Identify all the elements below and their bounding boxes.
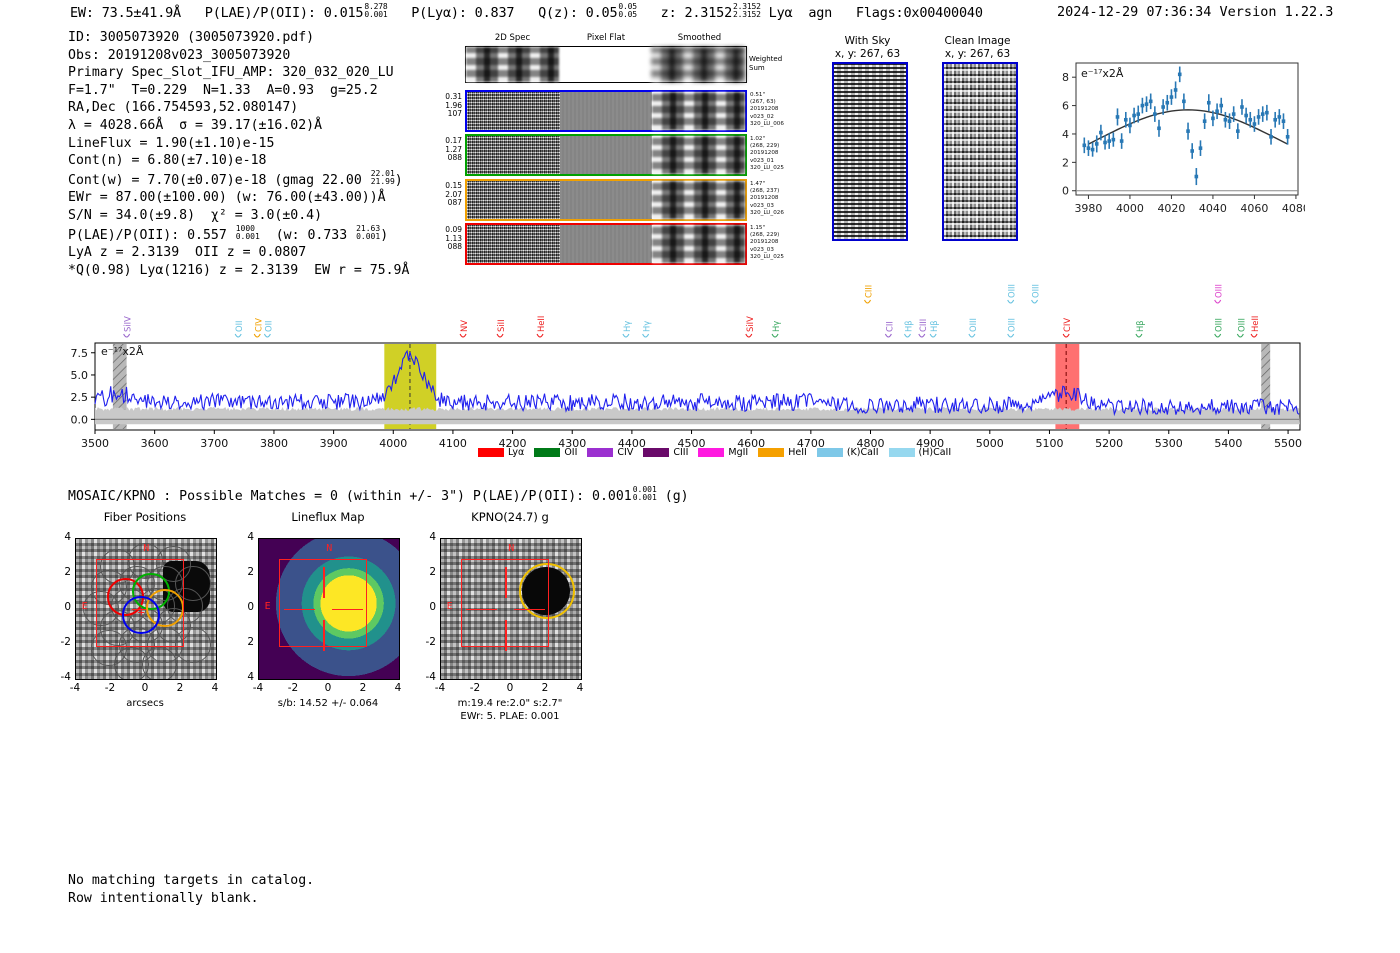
info-line-8: Cont(w) = 7.70(±0.07)e-18 (gmag 22.00 22… bbox=[68, 170, 409, 190]
svg-text:4100: 4100 bbox=[439, 437, 467, 450]
emission-line-marker: OIII bbox=[1236, 318, 1246, 337]
svg-text:2.5: 2.5 bbox=[71, 391, 89, 404]
svg-text:0: 0 bbox=[1062, 185, 1069, 198]
cutout-xtick: -2 bbox=[100, 682, 120, 694]
cutout-ytick: 0 bbox=[238, 601, 254, 613]
svg-text:Hγ: Hγ bbox=[771, 321, 781, 332]
cutout-xtick: 2 bbox=[170, 682, 190, 694]
svg-text:e⁻¹⁷x2Å: e⁻¹⁷x2Å bbox=[101, 345, 144, 358]
info-line-3: F=1.7" T=0.229 N=1.33 A=0.93 g=25.2 bbox=[68, 82, 409, 100]
line-fit-chart: 02468398040004020404040604080e⁻¹⁷x2Å bbox=[1040, 55, 1305, 220]
svg-text:e⁻¹⁷x2Å: e⁻¹⁷x2Å bbox=[1081, 67, 1124, 80]
svg-text:CIII: CIII bbox=[864, 285, 874, 298]
full-spectrum-panel: 0.02.55.07.53500360037003800390040004100… bbox=[0, 280, 1400, 470]
emission-line-marker: Hγ bbox=[642, 321, 652, 337]
info-line-11: P(LAE)/P(OII): 0.557 10000.001 (w: 0.733… bbox=[68, 225, 409, 245]
legend-label: Lyα bbox=[508, 447, 524, 458]
emission-line-marker: CIV bbox=[1062, 318, 1072, 337]
crosshair bbox=[466, 609, 497, 610]
crosshair bbox=[505, 567, 506, 598]
emission-line-marker: OIII bbox=[1007, 318, 1017, 337]
compass-east: E bbox=[447, 601, 453, 612]
cutout-ytick: 2 bbox=[55, 566, 71, 578]
info-line-13: *Q(0.98) Lyα(1216) z = 2.3139 EW r = 75.… bbox=[68, 262, 409, 280]
emission-line-marker: OIII bbox=[1031, 284, 1041, 303]
emission-line-marker: SiIV bbox=[745, 316, 755, 337]
legend-swatch bbox=[534, 448, 560, 457]
svg-text:OIII: OIII bbox=[1236, 318, 1246, 332]
svg-text:4: 4 bbox=[1062, 128, 1069, 141]
cutout-ytick: 4 bbox=[238, 531, 254, 543]
legend-label: OII bbox=[564, 447, 577, 458]
cutout-caption: m:19.4 re:2.0" s:2.7"EWr: 5. PLAE: 0.001 bbox=[400, 698, 620, 723]
svg-text:SiIV: SiIV bbox=[745, 316, 755, 332]
svg-text:HeII: HeII bbox=[536, 316, 546, 332]
svg-text:Hγ: Hγ bbox=[622, 321, 632, 332]
legend-swatch bbox=[478, 448, 504, 457]
clean-image-title: Clean Imagex, y: 267, 63 bbox=[930, 35, 1025, 60]
svg-text:4060: 4060 bbox=[1240, 202, 1268, 215]
spec2d-fiber-strip bbox=[465, 134, 747, 176]
svg-text:CII: CII bbox=[884, 321, 894, 332]
svg-text:OII: OII bbox=[234, 320, 244, 332]
legend-label: MgII bbox=[728, 447, 748, 458]
compass-north: N bbox=[508, 543, 514, 554]
cutout-image: NE bbox=[258, 538, 400, 680]
compass-east: E bbox=[82, 601, 88, 612]
info-line-12: LyA z = 2.3139 OII z = 0.0807 bbox=[68, 244, 409, 262]
legend-item: (H)CaII bbox=[889, 447, 952, 458]
svg-text:5200: 5200 bbox=[1095, 437, 1123, 450]
legend-item: HeII bbox=[758, 447, 807, 458]
svg-text:8: 8 bbox=[1062, 71, 1069, 84]
svg-text:HeII: HeII bbox=[1250, 316, 1260, 332]
compass-north: N bbox=[143, 543, 149, 554]
svg-text:5.0: 5.0 bbox=[71, 369, 89, 382]
legend-label: CIV bbox=[617, 447, 633, 458]
spec2d-row-right-labels: 1.15"(268, 229)20191208v023_03320_LU_025 bbox=[750, 225, 812, 261]
info-line-2: Primary Spec_Slot_IFU_AMP: 320_032_020_L… bbox=[68, 64, 409, 82]
emission-line-marker: OIII bbox=[1214, 318, 1224, 337]
spec2d-fiber-strip bbox=[465, 223, 747, 265]
svg-text:4020: 4020 bbox=[1157, 202, 1185, 215]
info-line-9: EWr = 87.00(±100.00) (w: 76.00(±43.00))Å bbox=[68, 189, 409, 207]
crosshair bbox=[323, 567, 324, 598]
svg-text:CIV: CIV bbox=[253, 318, 263, 332]
legend-label: (H)CaII bbox=[919, 447, 952, 458]
cutout-panels: Fiber Positions+NE420-2-4-4-2024arcsecsL… bbox=[0, 510, 700, 740]
svg-text:4080: 4080 bbox=[1282, 202, 1305, 215]
legend-label: CIII bbox=[673, 447, 688, 458]
info-line-6: LineFlux = 1.90(±1.10)e-15 bbox=[68, 135, 409, 153]
svg-text:0.0: 0.0 bbox=[71, 413, 89, 426]
emission-line-marker: OIII bbox=[1214, 284, 1224, 303]
emission-line-marker: NV bbox=[459, 320, 469, 337]
svg-text:3700: 3700 bbox=[200, 437, 228, 450]
spec2d-row-left-labels: 0.311.96107 bbox=[430, 93, 462, 119]
cutout-xtick: -4 bbox=[65, 682, 85, 694]
emission-line-marker: Hγ bbox=[771, 321, 781, 337]
emission-line-marker: CII bbox=[884, 321, 894, 337]
cutout-xtick: 0 bbox=[318, 682, 338, 694]
spec2d-row-right-labels: 1.47"(268, 237)20191208v023_03320_LU_026 bbox=[750, 181, 812, 217]
line-fit-svg: 02468398040004020404040604080e⁻¹⁷x2Å bbox=[1040, 55, 1305, 240]
cutout-xtick: -2 bbox=[283, 682, 303, 694]
cutout-image: +NE bbox=[75, 538, 217, 680]
info-line-4: RA,Dec (166.754593,52.080147) bbox=[68, 99, 409, 117]
svg-text:5300: 5300 bbox=[1155, 437, 1183, 450]
cutout-ytick: -2 bbox=[55, 636, 71, 648]
legend-swatch bbox=[698, 448, 724, 457]
svg-text:2: 2 bbox=[1062, 156, 1069, 169]
emission-line-marker: OII bbox=[263, 320, 273, 337]
crosshair bbox=[514, 609, 545, 610]
legend-label: (K)CaII bbox=[847, 447, 879, 458]
cutout-xtick: 2 bbox=[535, 682, 555, 694]
svg-text:SiII: SiII bbox=[496, 319, 506, 332]
cutout-title: Fiber Positions bbox=[60, 510, 230, 524]
clean-image bbox=[942, 62, 1018, 241]
svg-text:Hγ: Hγ bbox=[642, 321, 652, 332]
header-plae-poii-bounds: 8.2780.001 bbox=[364, 3, 387, 20]
target-info-block: ID: 3005073920 (3005073920.pdf)Obs: 2019… bbox=[68, 29, 409, 279]
cutout-ytick: 4 bbox=[55, 531, 71, 543]
emission-line-marker: SiII bbox=[496, 319, 506, 337]
weighted-sum-strip bbox=[465, 46, 747, 83]
legend-item: CIV bbox=[587, 447, 633, 458]
legend-label: HeII bbox=[788, 447, 807, 458]
svg-text:CIV: CIV bbox=[1062, 318, 1072, 332]
full-spectrum-svg: 0.02.55.07.53500360037003800390040004100… bbox=[0, 280, 1400, 470]
spec2d-montage: 2D Spec Pixel Flat Smoothed Weighted Sum… bbox=[430, 33, 760, 248]
col-title-2dspec: 2D Spec bbox=[465, 33, 560, 43]
svg-text:Hβ: Hβ bbox=[929, 320, 939, 332]
with-sky-image bbox=[832, 62, 908, 241]
emission-line-marker: OII bbox=[234, 320, 244, 337]
cutout-ytick: -2 bbox=[420, 636, 436, 648]
emission-line-marker: Hβ bbox=[1135, 320, 1145, 337]
svg-text:CIII: CIII bbox=[918, 319, 928, 332]
info-line-10: S/N = 34.0(±9.8) χ² = 3.0(±0.4) bbox=[68, 207, 409, 225]
target-marker: + bbox=[138, 605, 145, 619]
cutout-xtick: 0 bbox=[135, 682, 155, 694]
legend-item: CIII bbox=[643, 447, 688, 458]
spectrum-legend: LyαOIICIVCIIIMgIIHeII(K)CaII(H)CaII bbox=[478, 447, 951, 458]
svg-text:OIII: OIII bbox=[1214, 284, 1224, 298]
field-box bbox=[96, 559, 185, 648]
spec2d-row-left-labels: 0.171.27088 bbox=[430, 137, 462, 163]
compass-north: N bbox=[326, 543, 332, 554]
crosshair bbox=[323, 620, 324, 651]
cutout-xtick: -4 bbox=[248, 682, 268, 694]
svg-text:SiIV: SiIV bbox=[123, 316, 133, 332]
header-plae-poii: P(LAE)/P(OII): 0.015 bbox=[205, 5, 364, 21]
cutout-xtick: -4 bbox=[430, 682, 450, 694]
cutout-xtick: 4 bbox=[570, 682, 590, 694]
timestamp-version: 2024-12-29 07:36:34 Version 1.22.3 bbox=[1057, 4, 1333, 20]
svg-text:3900: 3900 bbox=[320, 437, 348, 450]
legend-item: OII bbox=[534, 447, 577, 458]
spec2d-row-right-labels: 0.51"(267, 63)20191208v023_02320_LU_006 bbox=[750, 92, 812, 128]
svg-text:5100: 5100 bbox=[1035, 437, 1063, 450]
spec2d-row-right-labels: 1.02"(268, 229)20191208v023_01320_LU_025 bbox=[750, 136, 812, 172]
cutout-title: KPNO(24.7) g bbox=[425, 510, 595, 524]
cutout-ytick: 2 bbox=[420, 566, 436, 578]
info-line-5: λ = 4028.66Å σ = 39.17(±16.02)Å bbox=[68, 117, 409, 135]
svg-text:NV: NV bbox=[459, 320, 469, 332]
header-qz-bounds: 0.050.05 bbox=[618, 3, 636, 20]
with-sky-title: With Skyx, y: 267, 63 bbox=[820, 35, 915, 60]
legend-item: MgII bbox=[698, 447, 748, 458]
svg-text:OIII: OIII bbox=[968, 318, 978, 332]
legend-swatch bbox=[817, 448, 843, 457]
svg-text:Hβ: Hβ bbox=[903, 320, 913, 332]
crosshair bbox=[505, 620, 506, 651]
emission-line-marker: CIV bbox=[253, 318, 263, 337]
svg-text:3600: 3600 bbox=[141, 437, 169, 450]
col-title-pixelflat: Pixel Flat bbox=[560, 33, 652, 43]
svg-text:5400: 5400 bbox=[1214, 437, 1242, 450]
crosshair bbox=[332, 609, 363, 610]
svg-text:6: 6 bbox=[1062, 100, 1069, 113]
cutout-ytick: 4 bbox=[420, 531, 436, 543]
legend-item: (K)CaII bbox=[817, 447, 879, 458]
legend-item: Lyα bbox=[478, 447, 524, 458]
legend-swatch bbox=[758, 448, 784, 457]
legend-swatch bbox=[587, 448, 613, 457]
cutout-xtick: -2 bbox=[465, 682, 485, 694]
emission-line-marker: HeII bbox=[536, 316, 546, 337]
spec2d-row-left-labels: 0.091.13088 bbox=[430, 226, 462, 252]
svg-text:7.5: 7.5 bbox=[71, 347, 89, 360]
mosaic-kpno-line: MOSAIC/KPNO : Possible Matches = 0 (with… bbox=[68, 486, 689, 504]
svg-text:3980: 3980 bbox=[1074, 202, 1102, 215]
header-z: z: 2.3152 bbox=[661, 5, 732, 21]
cutout-ytick: 2 bbox=[238, 566, 254, 578]
cutout-title: Lineflux Map bbox=[243, 510, 413, 524]
emission-line-marker: CIII bbox=[918, 319, 928, 337]
info-line-1: Obs: 20191208v023_3005073920 bbox=[68, 47, 409, 65]
emission-line-marker: OIII bbox=[968, 318, 978, 337]
svg-text:OIII: OIII bbox=[1007, 284, 1017, 298]
cutout-xtick: 4 bbox=[388, 682, 408, 694]
header-flags: Flags:0x00400040 bbox=[856, 5, 983, 21]
header-summary-line: EW: 73.5±41.9Å P(LAE)/P(OII): 0.0158.278… bbox=[70, 3, 983, 21]
svg-text:5500: 5500 bbox=[1274, 437, 1302, 450]
emission-line-marker: Hβ bbox=[903, 320, 913, 337]
cutout-ytick: 0 bbox=[55, 601, 71, 613]
header-z-bounds: 2.31522.3152 bbox=[733, 3, 761, 20]
emission-line-marker: Hγ bbox=[622, 321, 632, 337]
cutout-image: NE bbox=[440, 538, 582, 680]
cutout-xtick: 4 bbox=[205, 682, 225, 694]
footer-note: No matching targets in catalog. Row inte… bbox=[68, 872, 314, 908]
cutout-xtick: 0 bbox=[500, 682, 520, 694]
svg-text:OIII: OIII bbox=[1007, 318, 1017, 332]
emission-line-marker: OIII bbox=[1007, 284, 1017, 303]
svg-text:Hβ: Hβ bbox=[1135, 320, 1145, 332]
svg-text:4040: 4040 bbox=[1199, 202, 1227, 215]
col-title-smoothed: Smoothed bbox=[652, 33, 747, 43]
legend-swatch bbox=[643, 448, 669, 457]
mosaic-ratio-bounds: 0.0010.001 bbox=[633, 486, 657, 503]
emission-line-marker: Hβ bbox=[929, 320, 939, 337]
emission-line-marker: SiIV bbox=[123, 316, 133, 337]
svg-text:OIII: OIII bbox=[1031, 284, 1041, 298]
svg-text:4000: 4000 bbox=[1116, 202, 1144, 215]
header-class-secondary: agn bbox=[808, 5, 832, 21]
spec2d-row-left-labels: 0.152.07087 bbox=[430, 182, 462, 208]
info-line-7: Cont(n) = 6.80(±7.10)e-18 bbox=[68, 152, 409, 170]
emission-line-marker: CIII bbox=[864, 285, 874, 303]
header-qz: Q(z): 0.05 bbox=[538, 5, 617, 21]
weighted-sum-label: Weighted Sum bbox=[749, 55, 782, 72]
cutout-xtick: 2 bbox=[353, 682, 373, 694]
cutout-ytick: 0 bbox=[420, 601, 436, 613]
header-class-primary: Lyα bbox=[769, 5, 793, 21]
svg-text:OIII: OIII bbox=[1214, 318, 1224, 332]
mosaic-suffix: (g) bbox=[665, 489, 689, 504]
mosaic-prefix: MOSAIC/KPNO : Possible Matches = 0 (with… bbox=[68, 489, 632, 504]
fiber-circle bbox=[142, 647, 178, 680]
svg-text:3500: 3500 bbox=[81, 437, 109, 450]
svg-text:5000: 5000 bbox=[976, 437, 1004, 450]
spec2d-fiber-strip bbox=[465, 90, 747, 132]
emission-line-marker: HeII bbox=[1250, 316, 1260, 337]
header-plya: P(Lyα): 0.837 bbox=[411, 5, 514, 21]
svg-text:4000: 4000 bbox=[379, 437, 407, 450]
svg-text:OII: OII bbox=[263, 320, 273, 332]
crosshair bbox=[284, 609, 315, 610]
info-line-0: ID: 3005073920 (3005073920.pdf) bbox=[68, 29, 409, 47]
spec2d-fiber-strip bbox=[465, 179, 747, 221]
legend-swatch bbox=[889, 448, 915, 457]
compass-east: E bbox=[265, 601, 271, 612]
header-ew: EW: 73.5±41.9Å bbox=[70, 5, 181, 21]
svg-text:3800: 3800 bbox=[260, 437, 288, 450]
cutout-ytick: 2 bbox=[238, 636, 254, 648]
